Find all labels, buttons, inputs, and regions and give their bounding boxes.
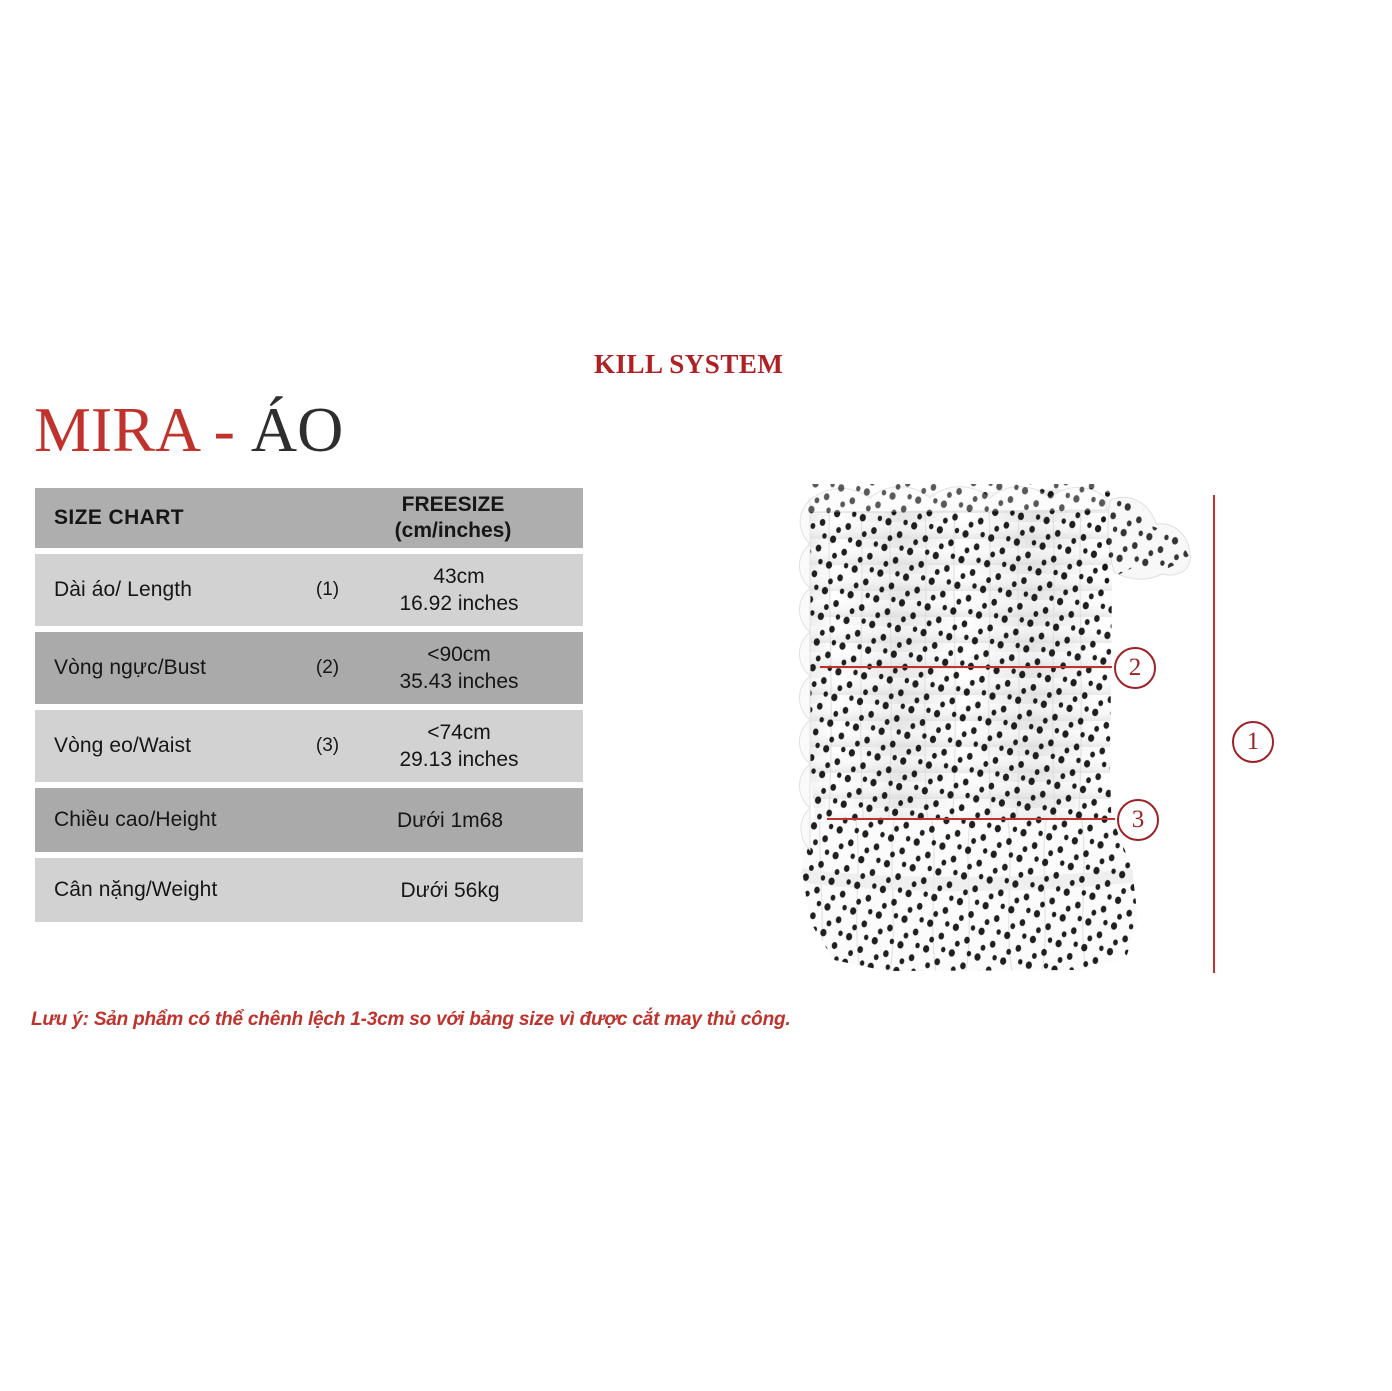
- table-row: Cân nặng/Weight Dưới 56kg: [35, 858, 583, 922]
- page-title: MIRA - ÁO: [34, 394, 343, 466]
- marker-length: 1: [1232, 721, 1274, 763]
- row-value-cm-bust: <90cm: [427, 643, 491, 666]
- row-label-height: Chiều cao/Height: [35, 808, 290, 832]
- row-label-length: Dài áo/ Length: [35, 578, 290, 602]
- brand-name: KILL SYSTEM: [594, 349, 783, 380]
- table-row: Vòng ngực/Bust (2) <90cm 35.43 inches: [35, 632, 583, 704]
- marker-waist: 3: [1117, 799, 1159, 841]
- row-value-bust: <90cm 35.43 inches: [365, 641, 583, 695]
- size-chart-table: SIZE CHART FREESIZE (cm/inches) Dài áo/ …: [35, 488, 583, 928]
- table-row: Chiều cao/Height Dưới 1m68: [35, 788, 583, 852]
- garment-image: [760, 470, 1300, 1000]
- header-value-line2: (cm/inches): [365, 518, 541, 544]
- table-row: Vòng eo/Waist (3) <74cm 29.13 inches: [35, 710, 583, 782]
- row-value-in-waist: 29.13 inches: [365, 746, 553, 773]
- bust-measure-line: [820, 666, 1112, 668]
- header-value: FREESIZE (cm/inches): [365, 492, 583, 544]
- table-row: Dài áo/ Length (1) 43cm 16.92 inches: [35, 554, 583, 626]
- row-ref-length: (1): [290, 579, 365, 601]
- marker-bust: 2: [1114, 647, 1156, 689]
- row-value-in-length: 16.92 inches: [365, 590, 553, 617]
- waist-measure-line: [827, 818, 1115, 820]
- row-value-cm-waist: <74cm: [427, 721, 491, 744]
- title-suffix: ÁO: [251, 394, 343, 465]
- title-separator: -: [198, 394, 251, 465]
- row-value-length: 43cm 16.92 inches: [365, 563, 583, 617]
- table-header-row: SIZE CHART FREESIZE (cm/inches): [35, 488, 583, 548]
- disclaimer-note: Lưu ý: Sản phẩm có thể chênh lệch 1-3cm …: [31, 1009, 790, 1031]
- row-value-cm-length: 43cm: [433, 565, 484, 588]
- row-label-weight: Cân nặng/Weight: [35, 878, 290, 902]
- row-value-height: Dưới 1m68: [365, 807, 583, 834]
- length-measure-line: [1213, 495, 1215, 973]
- row-ref-bust: (2): [290, 657, 365, 679]
- header-value-line1: FREESIZE: [402, 493, 505, 516]
- row-value-weight: Dưới 56kg: [365, 877, 583, 904]
- row-ref-waist: (3): [290, 735, 365, 757]
- row-label-bust: Vòng ngực/Bust: [35, 656, 290, 680]
- garment-illustration: 2 3 1: [760, 470, 1300, 1000]
- header-label: SIZE CHART: [35, 506, 290, 530]
- row-value-in-bust: 35.43 inches: [365, 668, 553, 695]
- row-label-waist: Vòng eo/Waist: [35, 734, 290, 758]
- row-value-waist: <74cm 29.13 inches: [365, 719, 583, 773]
- title-name: MIRA: [34, 394, 198, 465]
